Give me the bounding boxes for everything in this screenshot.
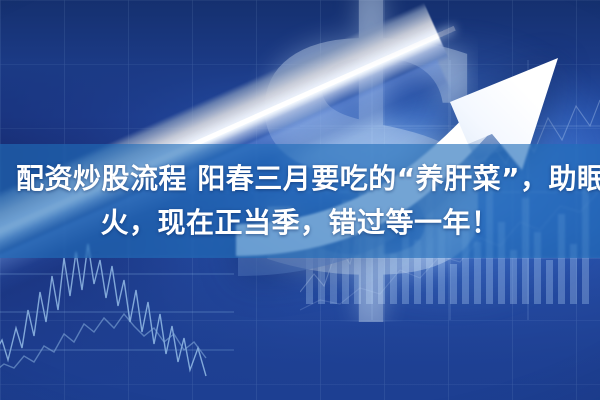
headline-line-2: 火，现在正当季，错过等一年！ <box>100 202 499 244</box>
stock-market-banner: $ <box>0 0 600 400</box>
headline: 配资炒股流程 阳春三月要吃的“养肝菜”，助眠清 火，现在正当季，错过等一年！ <box>0 144 600 258</box>
headline-line-1: 配资炒股流程 阳春三月要吃的“养肝菜”，助眠清 <box>8 158 600 200</box>
stock-line-chart-left-icon <box>0 236 274 386</box>
